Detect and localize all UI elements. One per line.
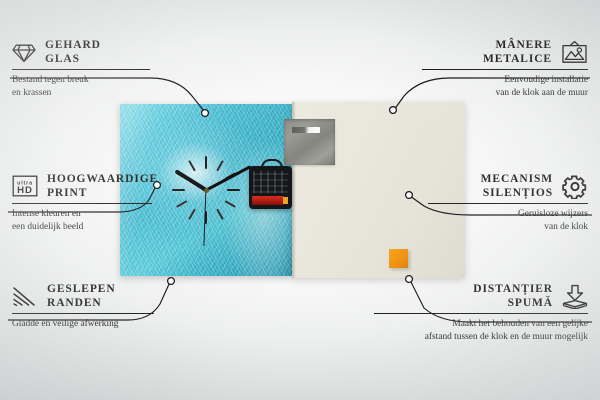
callout-hoogwaardige-print[interactable]: ultra HD HOOGWAARDIGE PRINT Intense kleu…: [12, 172, 152, 233]
callout-manere-metalice[interactable]: MÂNERE METALICE Eenvoudige installatie v…: [422, 38, 588, 99]
callout-desc: Intense kleuren en een duidelijk beeld: [12, 208, 152, 233]
callout-title-row: ultra HD HOOGWAARDIGE PRINT: [12, 172, 152, 200]
clock-hour-hand: [174, 169, 207, 191]
callout-title: DISTANȚIER SPUMĂ: [473, 282, 553, 310]
ultra-hd-icon: ultra HD: [12, 175, 38, 197]
callout-geslepen-randen[interactable]: GESLEPEN RANDEN Gladde en veilige afwerk…: [12, 282, 154, 331]
callout-rule: [374, 313, 588, 314]
clock-tick-8: [176, 172, 236, 208]
gear-icon: [562, 174, 588, 199]
clock-tick-12: [205, 156, 207, 224]
callout-rule: [422, 69, 588, 70]
svg-text:HD: HD: [17, 185, 33, 196]
clock-tick-3: [172, 189, 240, 191]
callout-title: HOOGWAARDIGE PRINT: [47, 172, 158, 200]
picture-hanger-icon: [561, 40, 588, 64]
connector-dot-randen: [168, 278, 175, 285]
beveled-edges-icon: [12, 286, 38, 307]
spacer-arrow-icon: [562, 284, 588, 309]
foam-spacer: [389, 249, 408, 268]
clock-mechanism: [249, 166, 292, 209]
callout-desc: Gladde en veilige afwerking: [12, 318, 154, 331]
callout-title: MÂNERE METALICE: [483, 38, 552, 66]
clock-tick-2: [176, 172, 236, 208]
callout-rule: [428, 203, 588, 204]
callout-title-row: DISTANȚIER SPUMĂ: [374, 282, 588, 310]
callout-rule: [12, 69, 150, 70]
clock-tick-1: [188, 160, 224, 220]
callout-title: MECANISM SILENȚIOS: [481, 172, 553, 200]
callout-title: GESLEPEN RANDEN: [47, 282, 116, 310]
hanger-loop-icon: [261, 159, 283, 171]
callout-desc: Geruisloze wijzers van de klok: [428, 208, 588, 233]
callout-distantier-spuma[interactable]: DISTANȚIER SPUMĂ Maakt het behouden van …: [374, 282, 588, 343]
infographic-canvas: GEHARD GLAS Bestand tegen breuk en krass…: [0, 0, 600, 400]
clock-tick-11: [188, 160, 224, 220]
callout-title-row: GEHARD GLAS: [12, 38, 150, 66]
callout-desc: Maakt het behouden van een gelijke afsta…: [374, 318, 588, 343]
callout-desc: Bestand tegen breuk en krassen: [12, 74, 150, 99]
clock-center-pin: [204, 188, 209, 193]
callout-rule: [12, 313, 154, 314]
clock-minute-hand: [205, 165, 251, 191]
callout-title-row: MECANISM SILENȚIOS: [428, 172, 588, 200]
clock-tick-9: [172, 189, 240, 191]
callout-mecanism-silentios[interactable]: MECANISM SILENȚIOS Geruisloze wijzers va…: [428, 172, 588, 233]
clock-tick-7: [188, 160, 224, 220]
clock-tick-5: [188, 160, 224, 220]
callout-title-row: MÂNERE METALICE: [422, 38, 588, 66]
clock-tick-10: [176, 172, 236, 208]
callout-title-row: GESLEPEN RANDEN: [12, 282, 154, 310]
callout-title: GEHARD GLAS: [45, 38, 101, 66]
clock-tick-6: [205, 156, 207, 224]
battery: [252, 196, 284, 205]
callout-desc: Eenvoudige installatie van de klok aan d…: [422, 74, 588, 99]
mechanism-texture: [253, 171, 288, 193]
metal-hanger-plate: [284, 119, 335, 165]
callout-rule: [12, 203, 152, 204]
clock-second-hand: [203, 190, 206, 246]
clock-tick-4: [176, 172, 236, 208]
callout-gehard-glas[interactable]: GEHARD GLAS Bestand tegen breuk en krass…: [12, 38, 150, 99]
diamond-icon: [12, 42, 36, 63]
